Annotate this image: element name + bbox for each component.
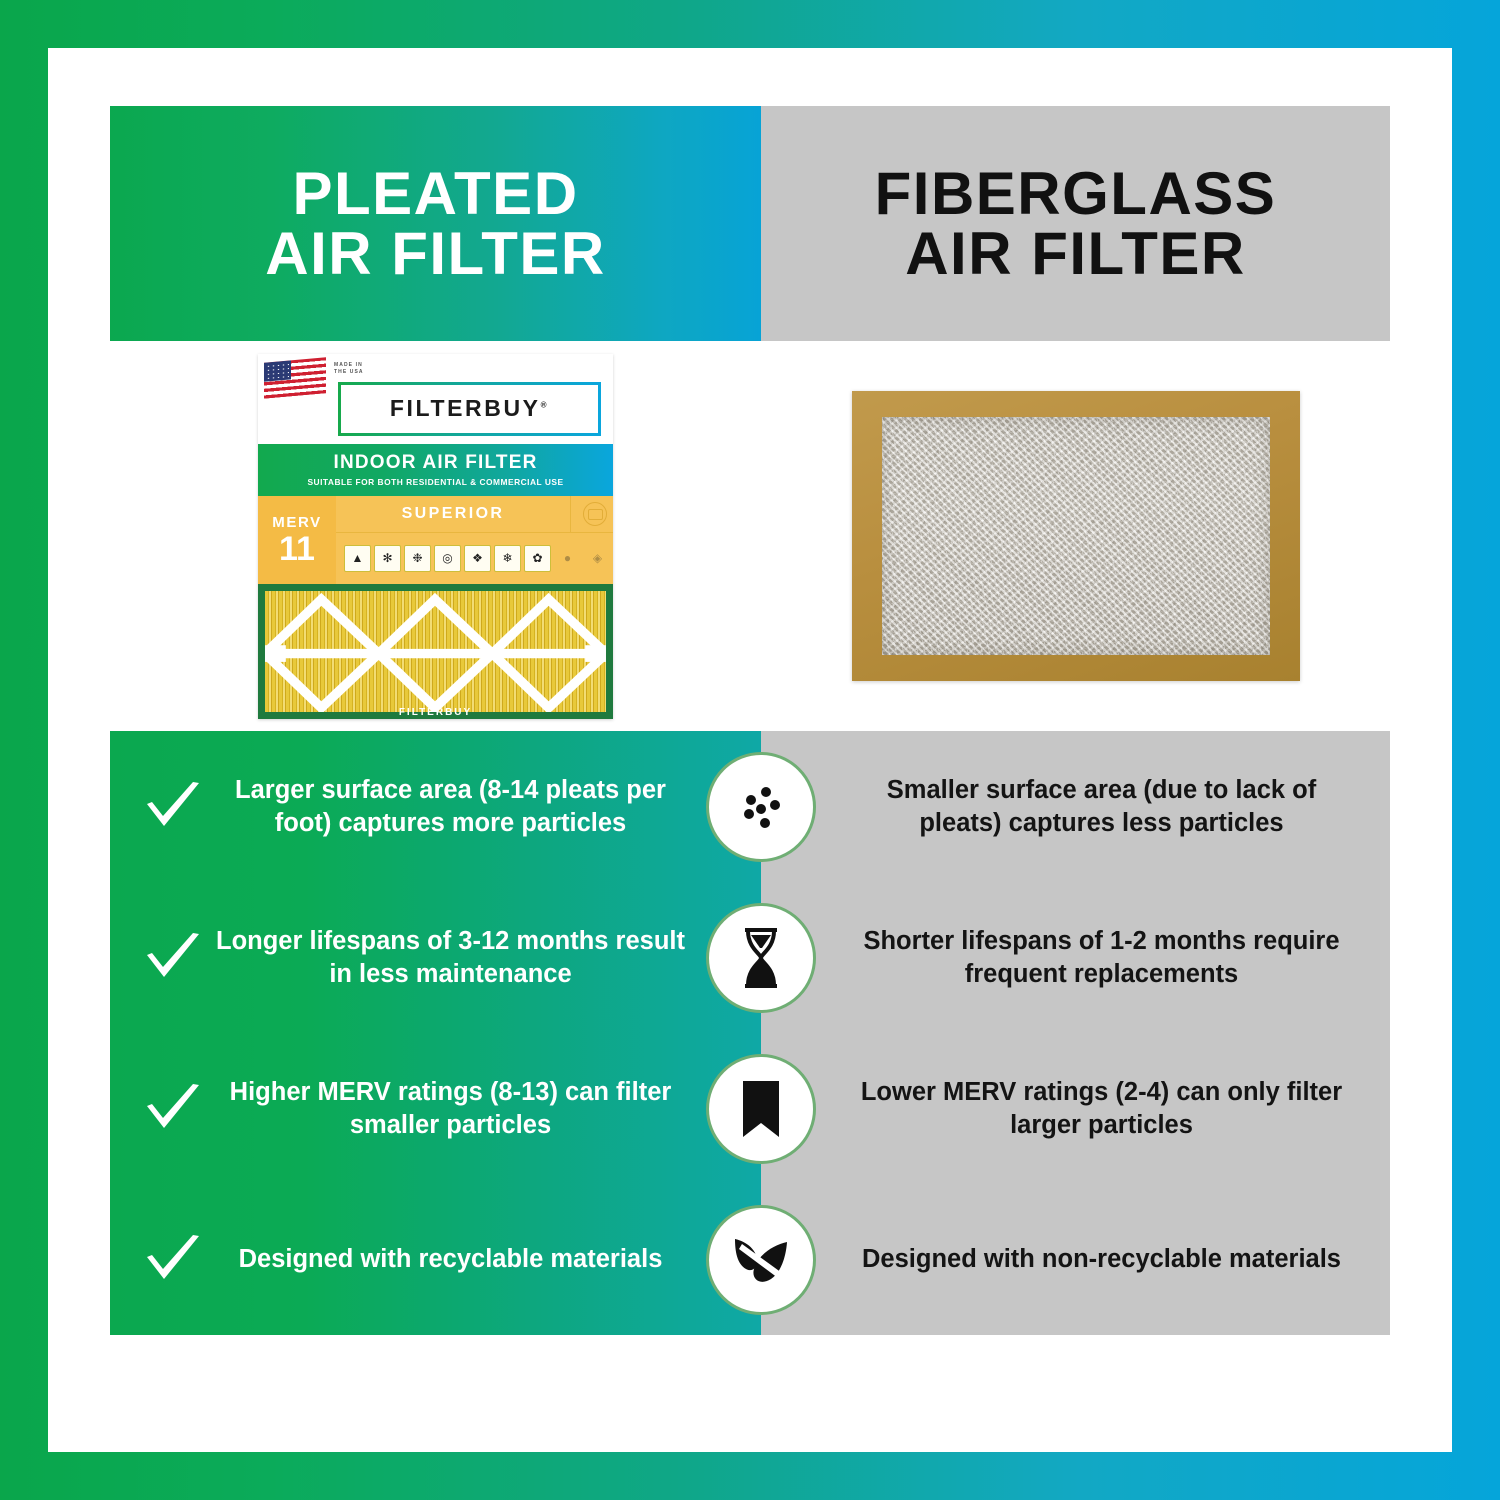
comparison-row-left: Designed with recyclable materials [110,1184,761,1335]
header-pleated-line1: PLEATED [292,160,578,227]
tier-label: SUPERIOR [336,505,570,523]
box-band-subtitle: SUITABLE FOR BOTH RESIDENTIAL & COMMERCI… [307,477,563,487]
comparison-row: Longer lifespans of 3-12 months result i… [110,882,1390,1033]
merv-label: MERV [272,514,321,531]
box-footer-brand: FILTERBUY [258,707,613,718]
header-pleated-line2: AIR FILTER [265,224,606,284]
support-lattice-icon [265,591,606,712]
comparison-row-right: Lower MERV ratings (2-4) can only filter… [761,1033,1390,1184]
insect-icon: ✻ [374,545,401,572]
header-fiberglass-line1: FIBERGLASS [875,160,1277,227]
usa-flag-icon [264,357,326,398]
box-indoor-band: INDOOR AIR FILTER SUITABLE FOR BOTH RESI… [258,444,613,496]
comparison-row: Higher MERV ratings (8-13) can filter sm… [110,1033,1390,1184]
row-left-text: Larger surface area (8-14 pleats per foo… [206,774,695,838]
pleated-image-cell: MADE INTHE USA FILTERBUY® INDOOR AIR FIL… [110,354,761,719]
header-row: PLEATED AIR FILTER FIBERGLASS AIR FILTER [110,106,1390,341]
fiberglass-media-texture [882,417,1270,655]
seal-icon [583,502,607,526]
comparison-row-left: Longer lifespans of 3-12 months result i… [110,882,761,1033]
certification-seal [570,496,613,532]
pleated-media-texture [265,591,606,712]
fiberglass-image-cell [761,391,1390,681]
box-top-section: MADE INTHE USA FILTERBUY® [258,354,613,444]
brand-logo-text: FILTERBUY® [390,395,549,422]
brand-logo-frame: FILTERBUY® [338,382,601,436]
row-left-text: Higher MERV ratings (8-13) can filter sm… [206,1076,695,1140]
dust-icon: ▲ [344,545,371,572]
row-right-text: Shorter lifespans of 1-2 months require … [847,925,1356,989]
mold-icon: ◎ [434,545,461,572]
row-left-text: Longer lifespans of 3-12 months result i… [206,925,695,989]
comparison-row: Larger surface area (8-14 pleats per foo… [110,731,1390,882]
tier-row: SUPERIOR [336,496,613,533]
comparison-row: Designed with recyclable materials Desig… [110,1184,1390,1335]
bacteria-icon: ❖ [464,545,491,572]
header-pleated: PLEATED AIR FILTER [110,106,761,341]
row-right-text: Lower MERV ratings (2-4) can only filter… [847,1076,1356,1140]
comparison-row-left: Higher MERV ratings (8-13) can filter sm… [110,1033,761,1184]
pet-dander-icon: ❄ [494,545,521,572]
fiberglass-filter-image [852,391,1300,681]
comparison-row-right: Smaller surface area (due to lack of ple… [761,731,1390,882]
virus-icon: ● [554,545,581,572]
hourglass-icon [706,903,816,1013]
row-right-text: Smaller surface area (due to lack of ple… [847,774,1356,838]
pleated-media-area: FILTERBUY [258,584,613,719]
row-left-text: Designed with recyclable materials [206,1243,695,1275]
particles-icon [706,752,816,862]
box-merv-right: SUPERIOR ▲ ✻ ❉ ◎ [336,496,613,584]
check-icon [140,1081,206,1137]
made-in-usa-label: MADE INTHE USA [334,362,364,377]
comparison-row-right: Shorter lifespans of 1-2 months require … [761,882,1390,1033]
brand-name: FILTERBUY [390,395,541,421]
header-fiberglass-title: FIBERGLASS AIR FILTER [875,164,1277,284]
white-card: PLEATED AIR FILTER FIBERGLASS AIR FILTER [48,48,1452,1452]
check-icon [140,779,206,835]
bookmark-icon [706,1054,816,1164]
infographic-content: PLEATED AIR FILTER FIBERGLASS AIR FILTER [110,106,1390,1394]
box-band-title: INDOOR AIR FILTER [333,452,537,474]
smoke-icon: ✿ [524,545,551,572]
product-image-row: MADE INTHE USA FILTERBUY® INDOOR AIR FIL… [110,341,1390,731]
box-merv-section: MERV 11 SUPERIOR [258,496,613,584]
check-icon [140,930,206,986]
leaf-eco-icon [706,1205,816,1315]
odor-icon: ◈ [584,545,611,572]
feature-icon-strip: ▲ ✻ ❉ ◎ ❖ ❄ ✿ ● ◈ [336,533,613,584]
header-pleated-title: PLEATED AIR FILTER [265,164,606,284]
infographic-frame: PLEATED AIR FILTER FIBERGLASS AIR FILTER [0,0,1500,1500]
header-fiberglass: FIBERGLASS AIR FILTER [761,106,1390,341]
comparison-section: Larger surface area (8-14 pleats per foo… [110,731,1390,1335]
pollen-icon: ❉ [404,545,431,572]
header-fiberglass-line2: AIR FILTER [875,224,1277,284]
row-right-text: Designed with non-recyclable materials [847,1243,1356,1275]
brand-trademark: ® [541,400,550,409]
pleated-filter-box-image: MADE INTHE USA FILTERBUY® INDOOR AIR FIL… [258,354,613,719]
merv-badge: MERV 11 [258,496,336,584]
comparison-row-left: Larger surface area (8-14 pleats per foo… [110,731,761,882]
merv-value: 11 [279,532,315,566]
check-icon [140,1232,206,1288]
comparison-row-right: Designed with non-recyclable materials [761,1184,1390,1335]
